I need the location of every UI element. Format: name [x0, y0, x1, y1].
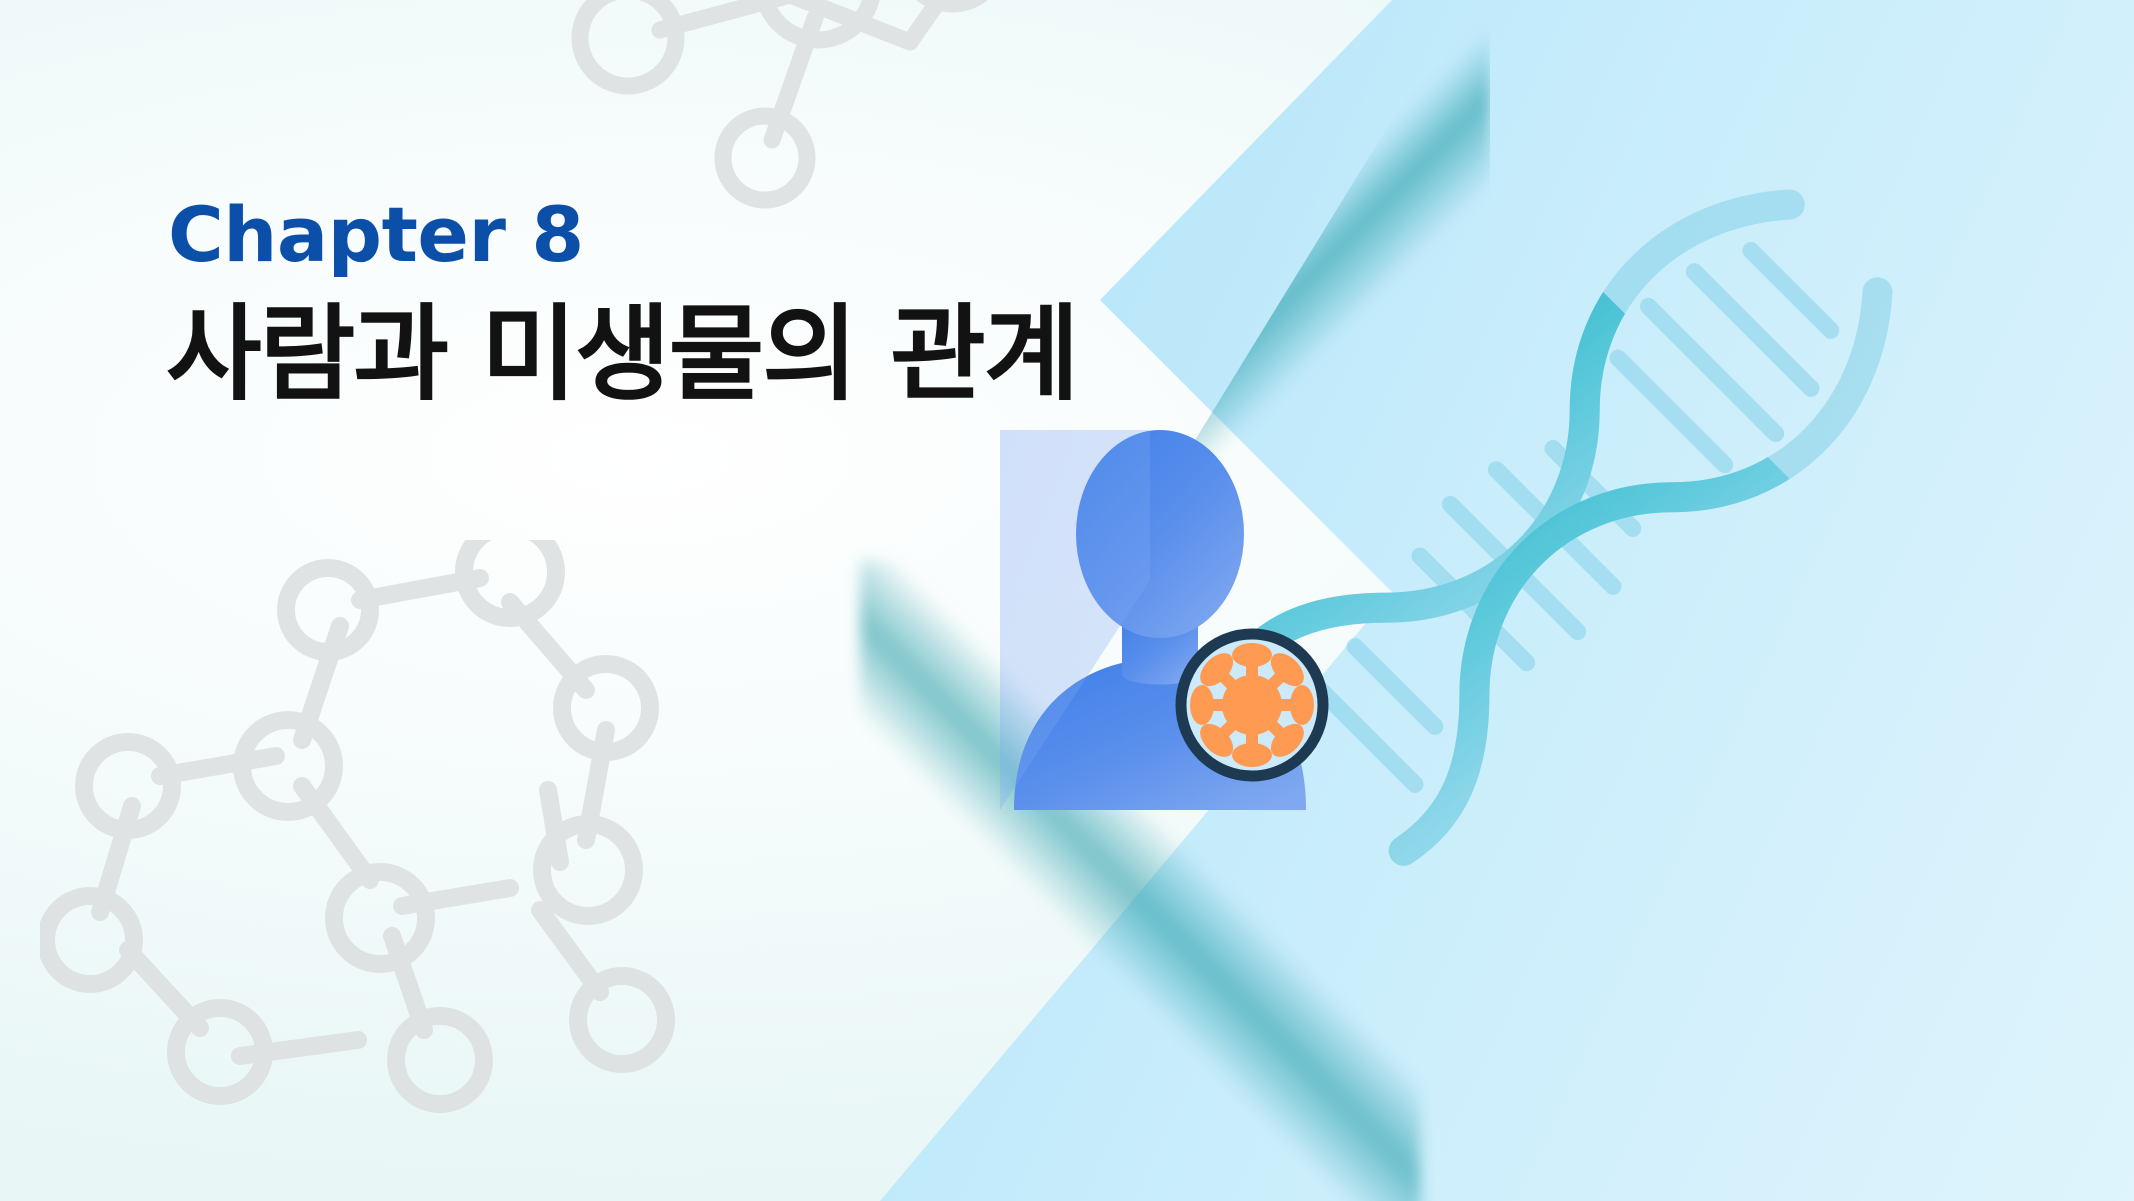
slide-canvas: Chapter 8 사람과 미생물의 관계: [0, 0, 2134, 1201]
molecule-hexagon-lattice-bottom-icon: [40, 540, 760, 1201]
coronavirus-icon: [1172, 625, 1332, 785]
chapter-label: Chapter 8: [168, 195, 1266, 275]
page-title: 사람과 미생물의 관계: [166, 293, 1266, 416]
title-block: Chapter 8 사람과 미생물의 관계: [166, 195, 1266, 416]
